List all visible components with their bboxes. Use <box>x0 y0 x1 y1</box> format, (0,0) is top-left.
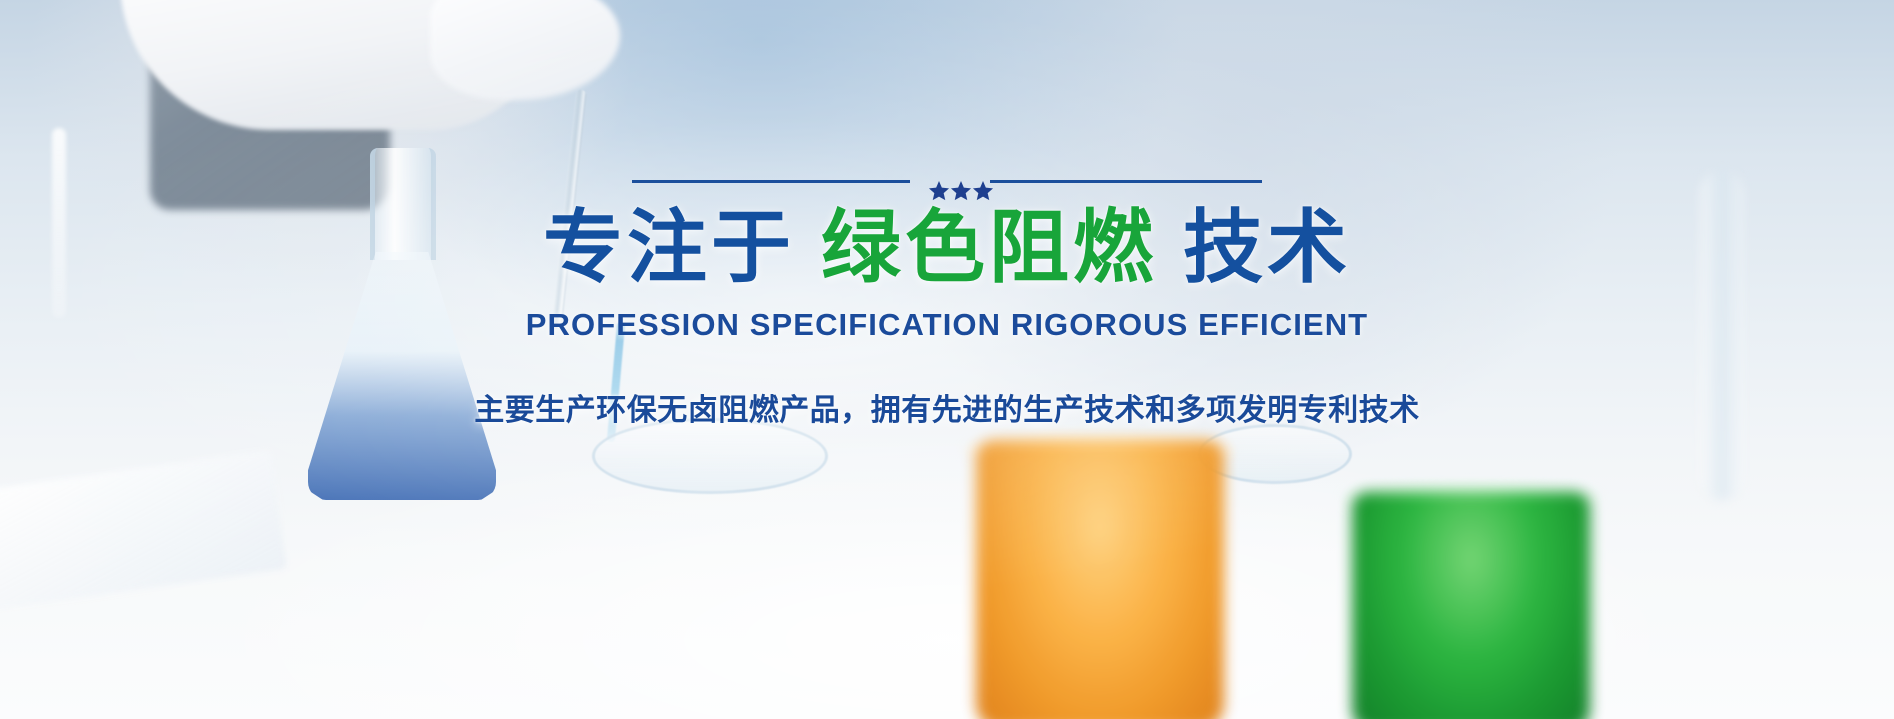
notebook <box>0 450 287 611</box>
headline: 专注于绿色阻燃技术 <box>0 206 1894 291</box>
divider-rule-left <box>632 180 910 183</box>
headline-part-3: 技术 <box>1183 203 1351 292</box>
banner-text-block: 专注于绿色阻燃技术 PROFESSION SPECIFICATION RIGOR… <box>0 170 1894 429</box>
headline-subtitle: PROFESSION SPECIFICATION RIGOROUS EFFICI… <box>0 307 1894 343</box>
orange-beaker <box>976 440 1224 719</box>
hero-banner: 专注于绿色阻燃技术 PROFESSION SPECIFICATION RIGOR… <box>0 0 1894 719</box>
banner-tagline: 主要生产环保无卤阻燃产品，拥有先进的生产技术和多项发明专利技术 <box>0 385 1894 429</box>
divider-rule-right <box>990 180 1262 183</box>
green-beaker <box>1352 492 1590 719</box>
headline-part-1: 专注于 <box>543 203 795 292</box>
pipette-bulb-icon <box>560 18 602 96</box>
petri-dish-center <box>592 418 828 494</box>
headline-part-2: 绿色阻燃 <box>821 203 1157 292</box>
decorative-divider <box>0 170 1894 192</box>
